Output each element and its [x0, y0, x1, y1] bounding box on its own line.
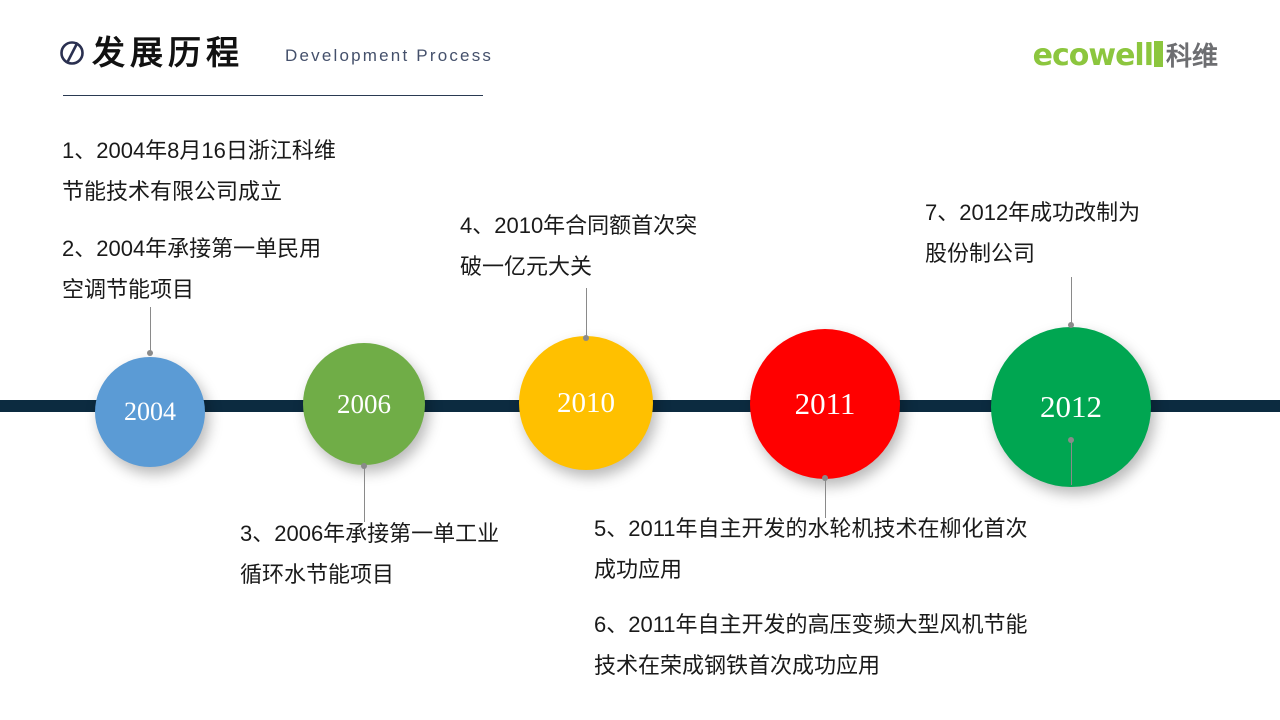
timeline-node-label: 2006: [337, 389, 391, 420]
connector-line-2012-top: [1071, 277, 1072, 327]
brand-wordmark: ecowell: [1033, 38, 1153, 73]
note-item-5: 5、2011年自主开发的水轮机技术在柳化首次 成功应用: [594, 508, 1028, 590]
connector-dot-2012-top: [1068, 322, 1074, 328]
circle-slash-icon: [58, 38, 86, 66]
note-line: 5、2011年自主开发的水轮机技术在柳化首次: [594, 508, 1028, 549]
note-line: 节能技术有限公司成立: [62, 171, 336, 212]
page-title: 发展历程: [92, 32, 244, 74]
note-line: 循环水节能项目: [240, 554, 499, 595]
connector-dot-2010: [583, 335, 589, 341]
note-item-6: 6、2011年自主开发的高压变频大型风机节能 技术在荣成钢铁首次成功应用: [594, 604, 1028, 686]
page-subtitle: Development Process: [285, 44, 493, 68]
note-line: 7、2012年成功改制为: [925, 192, 1140, 233]
note-item-2: 2、2004年承接第一单民用 空调节能项目: [62, 228, 321, 310]
timeline-node-2004[interactable]: 2004: [95, 357, 205, 467]
connector-dot-2012-bottom: [1068, 437, 1074, 443]
note-item-4: 4、2010年合同额首次突 破一亿元大关: [460, 205, 697, 287]
brand-wordmark-cn: 科维: [1166, 36, 1218, 73]
timeline-node-label: 2012: [1040, 389, 1102, 425]
connector-line-2012-bottom: [1071, 440, 1072, 485]
note-line: 3、2006年承接第一单工业: [240, 513, 499, 554]
timeline-node-2010[interactable]: 2010: [519, 336, 653, 470]
brand-logo: ecowell 科维: [1033, 36, 1218, 73]
note-line: 成功应用: [594, 549, 1028, 590]
note-line: 1、2004年8月16日浙江科维: [62, 130, 336, 171]
note-line: 4、2010年合同额首次突: [460, 205, 697, 246]
note-line: 破一亿元大关: [460, 246, 697, 287]
connector-dot-2004: [147, 350, 153, 356]
note-item-1: 1、2004年8月16日浙江科维 节能技术有限公司成立: [62, 130, 336, 212]
note-line: 股份制公司: [925, 233, 1140, 274]
note-line: 6、2011年自主开发的高压变频大型风机节能: [594, 604, 1028, 645]
connector-line-2004: [150, 307, 151, 355]
note-line: 2、2004年承接第一单民用: [62, 228, 321, 269]
note-item-7: 7、2012年成功改制为 股份制公司: [925, 192, 1140, 274]
slide-header: 发展历程 Development Process ecowell 科维: [0, 0, 1280, 110]
connector-dot-2006: [361, 463, 367, 469]
connector-line-2010: [586, 288, 587, 340]
note-item-3: 3、2006年承接第一单工业 循环水节能项目: [240, 513, 499, 595]
title-divider: [63, 95, 483, 96]
timeline-node-label: 2004: [124, 397, 176, 427]
timeline-node-2006[interactable]: 2006: [303, 343, 425, 465]
timeline-node-label: 2011: [795, 386, 856, 422]
brand-bars-icon: [1154, 41, 1163, 67]
timeline-node-2011[interactable]: 2011: [750, 329, 900, 479]
timeline-node-label: 2010: [557, 387, 615, 420]
connector-dot-2011: [822, 475, 828, 481]
note-line: 空调节能项目: [62, 269, 321, 310]
note-line: 技术在荣成钢铁首次成功应用: [594, 645, 1028, 686]
